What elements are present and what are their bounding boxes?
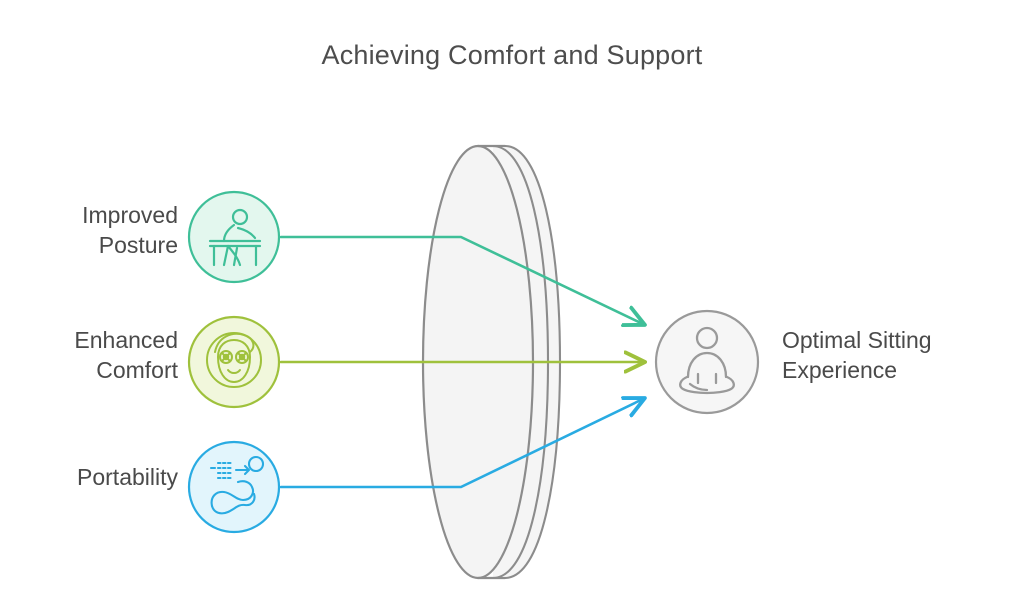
source-node-portability[interactable] xyxy=(189,442,279,532)
source-label-enhanced-comfort: Enhanced Comfort xyxy=(28,325,178,386)
target-node-optimal-sitting-experience[interactable] xyxy=(656,311,758,413)
source-label-improved-posture: Improved Posture xyxy=(28,200,178,261)
target-label-line: Experience xyxy=(782,355,1022,385)
source-node-improved-posture[interactable] xyxy=(189,192,279,282)
source-label-line: Improved xyxy=(28,200,178,230)
diagram-stage xyxy=(0,0,1024,614)
source-label-line: Portability xyxy=(28,462,178,492)
source-node-enhanced-comfort[interactable] xyxy=(189,317,279,407)
source-label-line: Enhanced xyxy=(28,325,178,355)
target-label-optimal-sitting-experience: Optimal Sitting Experience xyxy=(782,325,1022,386)
diagram-canvas: Achieving Comfort and Support xyxy=(0,0,1024,614)
target-label-line: Optimal Sitting xyxy=(782,325,1022,355)
source-label-line: Posture xyxy=(28,230,178,260)
source-label-line: Comfort xyxy=(28,355,178,385)
source-label-portability: Portability xyxy=(28,462,178,492)
